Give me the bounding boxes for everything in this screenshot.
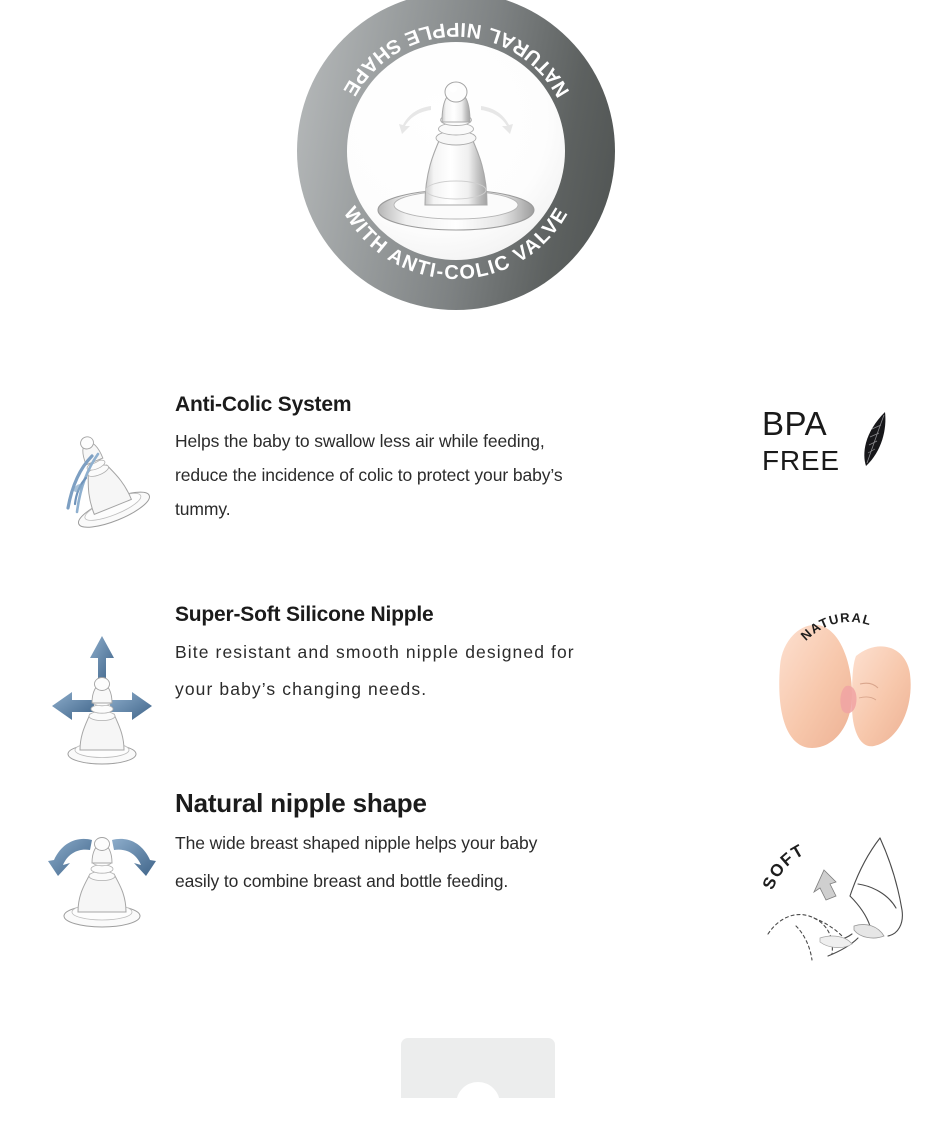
natural-breast-icon: NATURAL: [760, 602, 930, 767]
feature-body: The wide breast shaped nipple helps your…: [175, 824, 575, 900]
bpa-label: BPA: [762, 405, 827, 442]
badge-curved-text: WITH ANTI-COLIC VALVE NATURAL NIPPLE SHA…: [297, 0, 615, 310]
bpa-free-icon: BPA FREE: [762, 406, 922, 478]
badge-top-arc-label: WITH ANTI-COLIC VALVE: [339, 203, 573, 284]
feature-text-natural-shape: Natural nipple shape The wide breast sha…: [175, 788, 575, 900]
leaf-icon: [854, 409, 894, 476]
feature-heading: Natural nipple shape: [175, 788, 575, 818]
nipple-two-arrows-icon: [46, 830, 158, 939]
nipple-with-airflow-lines-icon: [46, 420, 158, 543]
badge-bottom-arc-label: NATURAL NIPPLE SHAPE: [338, 18, 574, 101]
feature-heading: Super-Soft Silicone Nipple: [175, 602, 575, 628]
soft-sketch-icon: SOFT: [762, 830, 930, 985]
free-label: FREE: [762, 445, 840, 476]
hang-tab-hole: [456, 1082, 500, 1126]
package-hang-tab: [401, 1038, 555, 1098]
feature-heading: Anti-Colic System: [175, 392, 575, 418]
soft-label: SOFT: [762, 840, 808, 892]
feature-text-anti-colic: Anti-Colic System Helps the baby to swal…: [175, 392, 575, 526]
feature-body: Bite resistant and smooth nipple designe…: [175, 634, 575, 708]
svg-text:SOFT: SOFT: [762, 840, 808, 892]
anti-colic-badge: WITH ANTI-COLIC VALVE NATURAL NIPPLE SHA…: [297, 0, 615, 310]
bpa-free-label: BPA FREE: [762, 406, 840, 478]
product-badge-area: WITH ANTI-COLIC VALVE NATURAL NIPPLE SHA…: [0, 0, 930, 310]
feature-body: Helps the baby to swallow less air while…: [175, 424, 575, 526]
feature-text-super-soft: Super-Soft Silicone Nipple Bite resistan…: [175, 602, 575, 708]
nipple-three-arrows-icon: [46, 630, 158, 773]
